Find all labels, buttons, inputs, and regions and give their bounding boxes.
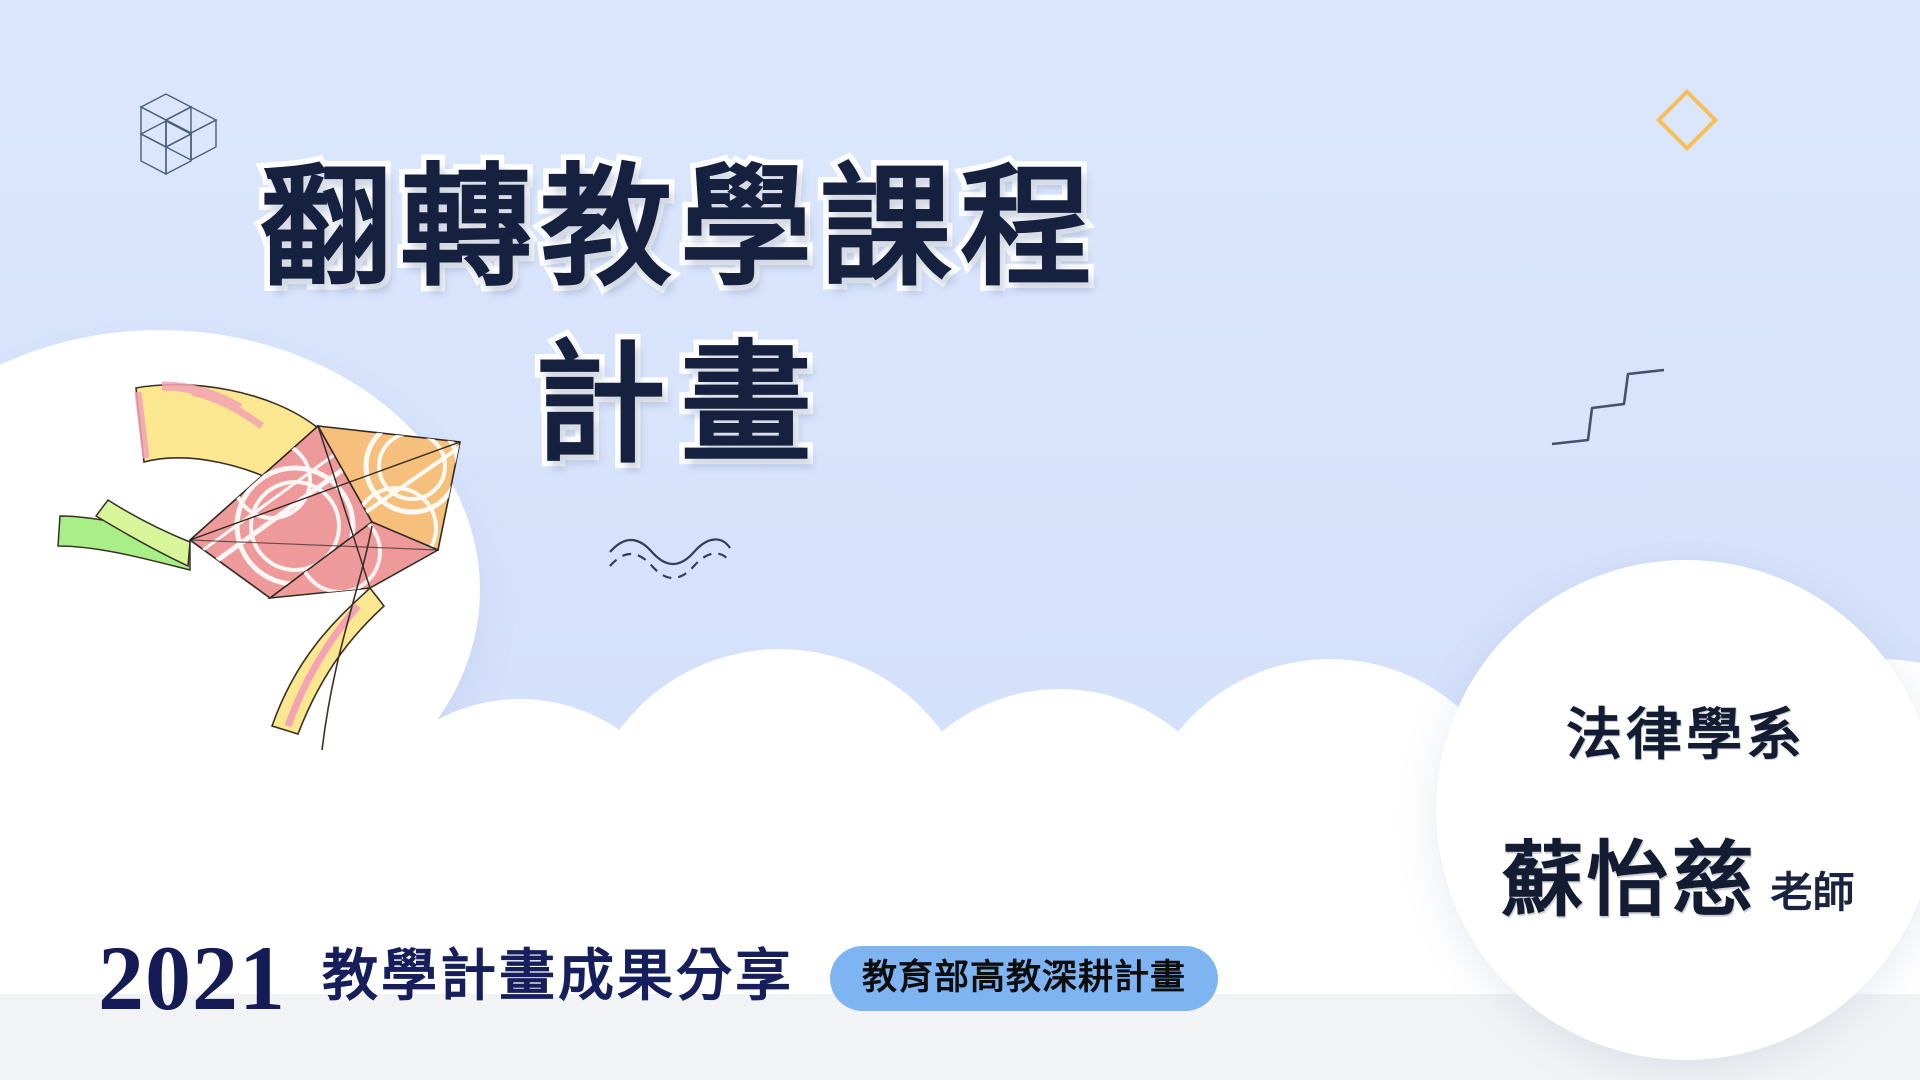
diamond-outline-icon — [1655, 88, 1719, 157]
year-label: 2021 — [98, 932, 286, 1024]
presenter-title-suffix: 老師 — [1771, 872, 1855, 922]
presenter-name-row: 蘇怡慈 老師 — [1408, 840, 1920, 922]
presenter-circle — [1436, 560, 1920, 1060]
presenter-name: 蘇怡慈 — [1501, 840, 1756, 922]
slide-title: 翻轉教學課程 計畫 — [0, 140, 1360, 494]
program-badge: 教育部高教深耕計畫 — [830, 946, 1218, 1011]
footer-bar: 2021 教學計畫成果分享 教育部高教深耕計畫 — [98, 932, 1218, 1024]
presentation-slide: 翻轉教學課程 計畫 法律學系 蘇 — [0, 0, 1920, 1080]
title-line-2: 計畫 — [0, 317, 1360, 494]
title-line-1: 翻轉教學課程 — [0, 140, 1360, 317]
subtitle-label: 教學計畫成果分享 — [322, 948, 794, 1008]
zigzag-line-icon — [1548, 362, 1668, 467]
presenter-department: 法律學系 — [1436, 690, 1920, 771]
